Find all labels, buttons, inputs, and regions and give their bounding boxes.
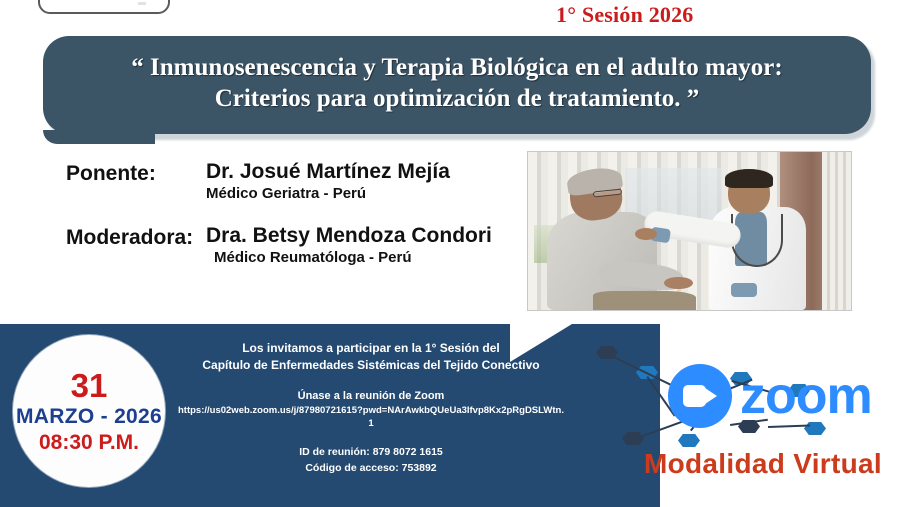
invite-line-2: Capítulo de Enfermedades Sistémicas del … [178, 357, 564, 374]
speaker-body-ponente: Dr. Josué Martínez Mejía Médico Geriatra… [206, 160, 506, 204]
camera-glyph [683, 385, 717, 407]
zoom-camera-icon [668, 364, 732, 428]
network-node-5 [622, 432, 644, 445]
speaker-credentials-moderadora: Médico Reumatóloga - Perú [206, 249, 506, 268]
photo-scene [528, 152, 851, 310]
speaker-role-moderadora: Moderadora: [66, 224, 206, 249]
date-time: 08:30 P.M. [39, 430, 139, 456]
camera-body [683, 385, 706, 407]
join-label: Únase a la reunión de Zoom [178, 389, 564, 404]
speaker-row-moderadora: Moderadora: Dra. Betsy Mendoza Condori M… [66, 224, 506, 268]
date-badge: 31 MARZO - 2026 08:30 P.M. [13, 335, 165, 487]
speaker-role-ponente: Ponente: [66, 160, 206, 185]
meeting-details: Los invitamos a participar en la 1° Sesi… [178, 340, 564, 476]
zoom-network-graphic: zoom [592, 336, 892, 456]
photo-doctor-hair [725, 169, 773, 188]
chrome-dot [138, 2, 146, 5]
meeting-url[interactable]: https://us02web.zoom.us/j/87980721615?pw… [178, 404, 564, 431]
speaker-row-ponente: Ponente: Dr. Josué Martínez Mejía Médico… [66, 160, 506, 204]
title-line-1: “ Inmunosenescencia y Terapia Biológica … [131, 52, 782, 84]
zoom-wordmark: zoom [740, 370, 872, 422]
title-banner: “ Inmunosenescencia y Terapia Biológica … [43, 36, 871, 134]
network-node-6 [678, 434, 700, 447]
speakers-block: Ponente: Dr. Josué Martínez Mejía Médico… [66, 160, 506, 288]
date-month-year: MARZO - 2026 [16, 405, 162, 428]
photo-doctor-cuff-lower [731, 283, 757, 297]
modality-label: Modalidad Virtual [644, 448, 882, 480]
photo-patient-legs [593, 291, 696, 311]
chrome-rounded-stub [38, 0, 170, 14]
webinar-poster: 1° Sesión 2026 “ Inmunosenescencia y Ter… [0, 0, 903, 507]
speaker-body-moderadora: Dra. Betsy Mendoza Condori Médico Reumat… [206, 224, 506, 268]
clinical-photo [527, 151, 852, 311]
photo-curtain-edge [822, 152, 851, 310]
invite-line-1: Los invitamos a participar en la 1° Sesi… [178, 340, 564, 357]
title-line-2: Criterios para optimización de tratamien… [215, 83, 700, 115]
network-link-1 [613, 356, 675, 388]
date-day: 31 [71, 369, 108, 402]
session-eyebrow: 1° Sesión 2026 [556, 2, 776, 28]
meeting-passcode: Código de acceso: 753892 [178, 461, 564, 477]
meeting-id: ID de reunión: 879 8072 1615 [178, 445, 564, 461]
network-link-8 [768, 425, 810, 428]
camera-lens [705, 388, 717, 404]
speaker-name-ponente: Dr. Josué Martínez Mejía [206, 160, 506, 184]
speaker-credentials-ponente: Médico Geriatra - Perú [206, 185, 506, 204]
speaker-name-moderadora: Dra. Betsy Mendoza Condori [206, 224, 506, 248]
